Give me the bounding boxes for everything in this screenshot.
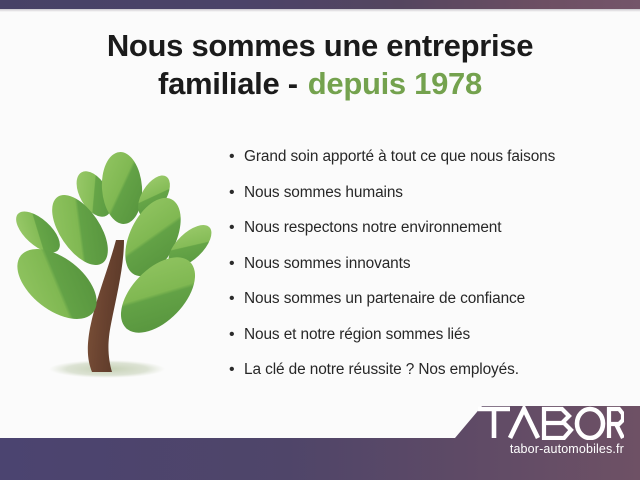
bullet-icon: • (229, 327, 244, 343)
headline-line-1: Nous sommes une entreprise (0, 27, 640, 65)
bullet-icon: • (229, 256, 244, 272)
top-accent-strip (0, 0, 640, 9)
list-item: • Nous respectons notre environnement (229, 219, 629, 255)
headline-line-2: familiale -depuis 1978 (0, 65, 640, 103)
top-accent-strip-shadow (0, 9, 640, 12)
list-item: • Nous sommes humains (229, 184, 629, 220)
list-item-label: Nous sommes un partenaire de confiance (244, 290, 525, 308)
bullet-icon: • (229, 220, 244, 236)
list-item: • Nous sommes un partenaire de confiance (229, 290, 629, 326)
footer-band: tabor-automobiles.fr (0, 398, 640, 480)
bullet-icon: • (229, 291, 244, 307)
list-item: • La clé de notre réussite ? Nos employé… (229, 361, 629, 397)
footer-band-shape (0, 406, 640, 480)
list-item-label: Nous et notre région sommes liés (244, 326, 470, 344)
headline-accent: depuis 1978 (308, 66, 482, 101)
slide-canvas: Nous sommes une entreprise familiale -de… (0, 0, 640, 480)
list-item-label: Grand soin apporté à tout ce que nous fa… (244, 148, 555, 166)
bullet-icon: • (229, 362, 244, 378)
tree-icon (12, 152, 227, 384)
list-item: • Nous et notre région sommes liés (229, 326, 629, 362)
headline-line-2-main: familiale - (158, 66, 298, 101)
list-item: • Nous sommes innovants (229, 255, 629, 291)
bullet-icon: • (229, 149, 244, 165)
list-item: • Grand soin apporté à tout ce que nous … (229, 148, 629, 184)
list-item-label: Nous sommes humains (244, 184, 403, 202)
list-item-label: Nous respectons notre environnement (244, 219, 501, 237)
page-title: Nous sommes une entreprise familiale -de… (0, 27, 640, 104)
benefits-list: • Grand soin apporté à tout ce que nous … (229, 148, 629, 397)
list-item-label: La clé de notre réussite ? Nos employés. (244, 361, 519, 379)
list-item-label: Nous sommes innovants (244, 255, 410, 273)
bullet-icon: • (229, 185, 244, 201)
